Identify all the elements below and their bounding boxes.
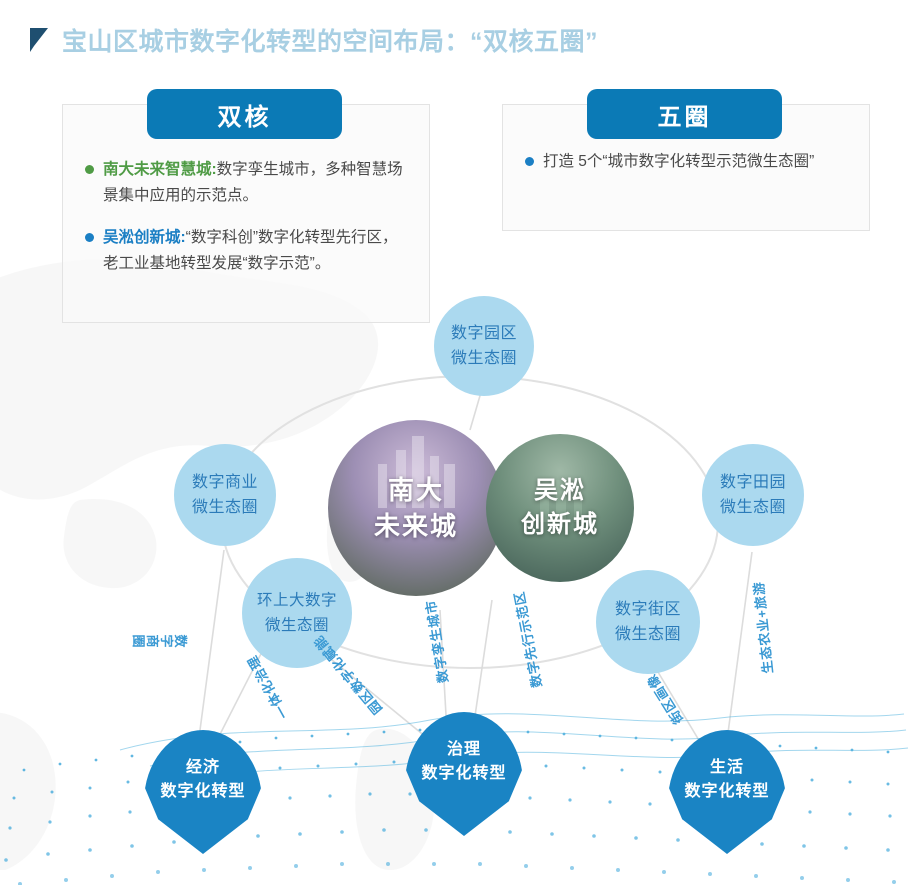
bullet-text: 打造 5个“城市数字化转型示范微生态圈”: [543, 149, 814, 175]
core-label: 吴淞 创新城: [521, 474, 599, 542]
bullet-lead: 吴淞创新城:: [103, 229, 186, 246]
pin-economy[interactable]: 经济 数字化转型: [144, 730, 262, 854]
bullet-lead: 南大未来智慧城:: [103, 161, 217, 178]
pin-line-1: 经济: [144, 756, 262, 780]
bullet-dot-icon: [525, 157, 534, 166]
pin-living[interactable]: 生活 数字化转型: [668, 730, 786, 854]
five-circles-bullet-list: 打造 5个“城市数字化转型示范微生态圈”: [503, 149, 869, 175]
page-title: 宝山区城市数字化转型的空间布局：“双核五圈”: [62, 22, 598, 58]
pin-line-1: 治理: [405, 738, 523, 762]
bullet-text: 南大未来智慧城:数字孪生城市，多种智慧场景集中应用的示范点。: [103, 157, 407, 209]
list-item: 南大未来智慧城:数字孪生城市，多种智慧场景集中应用的示范点。: [85, 157, 407, 209]
page-header: 宝山区城市数字化转型的空间布局：“双核五圈”: [28, 22, 598, 58]
pin-governance[interactable]: 治理 数字化转型: [405, 712, 523, 836]
bubble-line-1: 环上大数字: [257, 588, 337, 613]
pin-line-2: 数字化转型: [144, 780, 262, 804]
bubble-line-1: 数字园区: [451, 321, 517, 346]
pin-label: 生活 数字化转型: [668, 756, 786, 804]
bubble-digital-street[interactable]: 数字街区 微生态圈: [596, 570, 700, 674]
bubble-line-2: 微生态圈: [192, 495, 258, 520]
core-line-1: 南大: [374, 472, 458, 508]
list-item: 打造 5个“城市数字化转型示范微生态圈”: [525, 149, 847, 175]
pin-line-2: 数字化转型: [668, 780, 786, 804]
pin-label: 治理 数字化转型: [405, 738, 523, 786]
pill-dual-core: 双核: [147, 89, 342, 139]
bubble-line-2: 微生态圈: [451, 346, 517, 371]
bubble-digital-farmland[interactable]: 数字田园 微生态圈: [702, 444, 804, 546]
core-wusong[interactable]: 吴淞 创新城: [486, 434, 634, 582]
core-line-2: 创新城: [521, 508, 599, 542]
bullet-dot-icon: [85, 165, 94, 174]
bubble-line-2: 微生态圈: [720, 495, 786, 520]
pill-five-circles: 五圈: [587, 89, 782, 139]
bubble-line-2: 微生态圈: [615, 622, 681, 647]
pin-label: 经济 数字化转型: [144, 756, 262, 804]
core-line-1: 吴淞: [521, 474, 599, 508]
diagram-stage: 数字园区 微生态圈 数字商业 微生态圈 环上大数字 微生态圈 数字田园 微生态圈…: [0, 250, 912, 885]
core-nanda[interactable]: 南大 未来城: [328, 420, 504, 596]
core-label: 南大 未来城: [374, 472, 458, 544]
bubble-line-1: 数字商业: [192, 470, 258, 495]
bubble-line-1: 数字田园: [720, 470, 786, 495]
pin-line-1: 生活: [668, 756, 786, 780]
label-digital-business-district: 数字商圈: [132, 631, 188, 650]
infographic-root: 宝山区城市数字化转型的空间布局：“双核五圈” 南大未来智慧城:数字孪生城市，多种…: [0, 0, 912, 885]
core-line-2: 未来城: [374, 508, 458, 544]
bubble-digital-commerce[interactable]: 数字商业 微生态圈: [174, 444, 276, 546]
pin-line-2: 数字化转型: [405, 762, 523, 786]
bubble-line-1: 数字街区: [615, 597, 681, 622]
flag-marker-icon: [28, 26, 50, 54]
bubble-digital-park[interactable]: 数字园区 微生态圈: [434, 296, 534, 396]
bullet-dot-icon: [85, 233, 94, 242]
